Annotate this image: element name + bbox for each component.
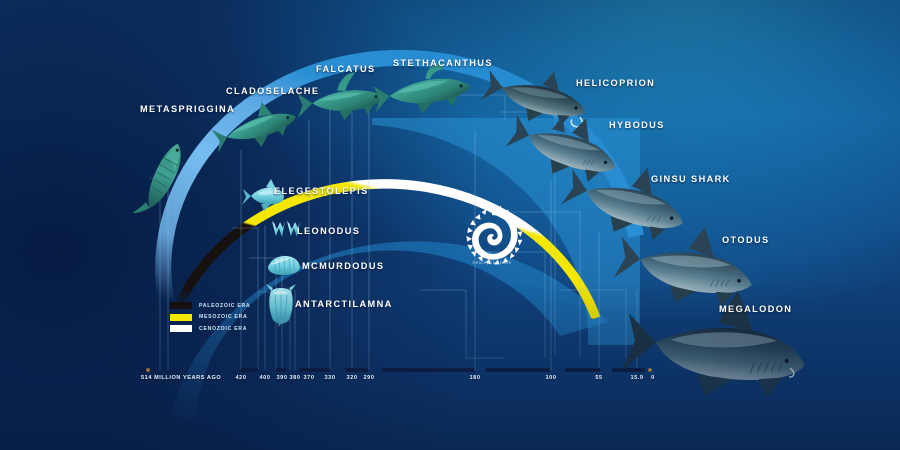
legend-swatch-cenozoic xyxy=(170,325,192,332)
species-label-stethacanthus: STETHACANTHUS xyxy=(393,58,493,68)
legend-swatch-paleozoic xyxy=(170,302,192,309)
tooth-spiral-icon xyxy=(466,205,522,265)
species-label-mcmurdodus: MCMURDODUS xyxy=(302,261,384,271)
species-label-ginsu-shark: GINSU SHARK xyxy=(651,174,731,184)
species-label-leonodus: LEONODUS xyxy=(297,226,360,236)
species-label-elegestolepis: ELEGESTOLEPIS xyxy=(274,186,369,196)
axis-tick-180: 180 xyxy=(470,375,481,381)
axis-tick-100: 100 xyxy=(546,375,557,381)
legend-label-cenozoic: CENOZOIC ERA xyxy=(199,326,247,332)
axis-tick-55: 55 xyxy=(595,375,602,381)
legend-item-mesozoic: MESOZOIC ERA xyxy=(170,314,250,321)
axis-tick-15-9: 15.9 xyxy=(630,375,643,381)
axis-tick-390: 390 xyxy=(277,375,288,381)
species-label-helicoprion: HELICOPRION xyxy=(576,78,655,88)
axis-tick-320: 320 xyxy=(347,375,358,381)
legend-swatch-mesozoic xyxy=(170,314,192,321)
axis-tick-514: 514 MILLION YEARS AGO xyxy=(141,375,221,381)
axis-tick-380: 380 xyxy=(290,375,301,381)
infographic-canvas: METASPRIGGINA CLADOSELACHE FALCATUS STET… xyxy=(0,0,900,450)
axis-tick-370: 370 xyxy=(304,375,315,381)
species-label-hybodus: HYBODUS xyxy=(609,120,665,130)
species-label-antarctilamna: ANTARCTILAMNA xyxy=(295,299,393,309)
species-label-cladoselache: CLADOSELACHE xyxy=(226,86,319,96)
axis-tick-400: 400 xyxy=(260,375,271,381)
axis-tick-0: 0 xyxy=(651,375,655,381)
legend-item-cenozoic: CENOZOIC ERA xyxy=(170,325,250,332)
axis-tick-420: 420 xyxy=(236,375,247,381)
axis-tick-290: 290 xyxy=(364,375,375,381)
species-label-otodus: OTODUS xyxy=(722,235,770,245)
species-label-metaspriggina: METASPRIGGINA xyxy=(140,104,235,114)
species-label-falcatus: FALCATUS xyxy=(316,64,376,74)
legend-label-mesozoic: MESOZOIC ERA xyxy=(199,314,247,320)
legend-item-paleozoic: PALEOZOIC ERA xyxy=(170,302,250,309)
era-legend: PALEOZOIC ERA MESOZOIC ERA CENOZOIC ERA xyxy=(170,302,250,337)
axis-tick-330: 330 xyxy=(325,375,336,381)
legend-label-paleozoic: PALEOZOIC ERA xyxy=(199,303,250,309)
species-label-megalodon: MEGALODON xyxy=(719,304,792,314)
logo-caption: Helicoprion teeth xyxy=(432,260,552,265)
